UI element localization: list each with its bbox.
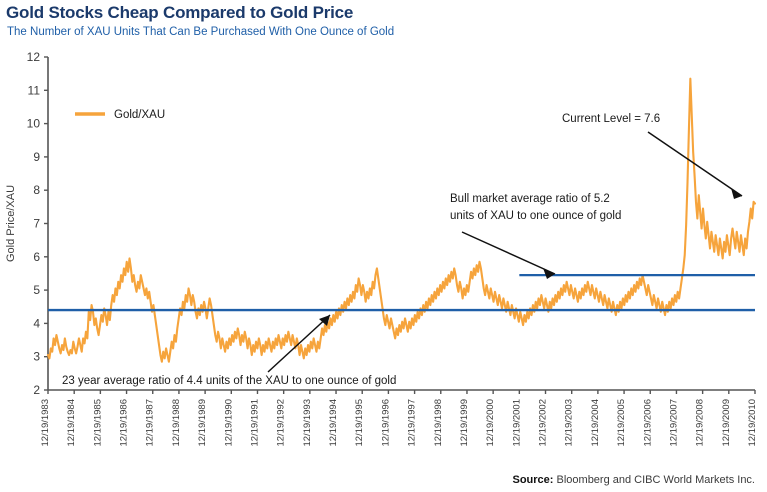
y-tick-label: 9 (33, 150, 40, 164)
x-tick-label: 12/19/1988 (171, 399, 182, 447)
x-tick-label: 12/19/1996 (380, 399, 391, 447)
x-tick-label: 12/19/1997 (407, 399, 418, 447)
x-tick-label: 12/19/2000 (485, 399, 496, 447)
x-tick-label: 12/19/2005 (616, 399, 627, 447)
x-tick-label: 12/19/2007 (668, 399, 679, 447)
x-tick-label: 12/19/2004 (590, 399, 601, 447)
x-tick-label: 12/19/1998 (433, 399, 444, 447)
x-tick-label: 12/19/2009 (721, 399, 732, 447)
source-text: Bloomberg and CIBC World Markets Inc. (553, 474, 755, 486)
x-tick-label: 12/19/2003 (564, 399, 575, 447)
y-tick-label: 10 (27, 117, 41, 131)
x-tick-label: 12/19/1989 (197, 399, 208, 447)
x-tick-label: 12/19/1984 (66, 399, 77, 447)
x-tick-label: 12/19/1991 (249, 399, 260, 447)
y-tick-label: 4 (33, 316, 40, 330)
annotation-bull-market-line2: units of XAU to one ounce of gold (450, 210, 621, 222)
annotation-arrowhead-bull-market (543, 268, 555, 279)
source-label: Source: (512, 474, 553, 486)
annotation-current-level: Current Level = 7.6 (562, 113, 660, 125)
x-tick-label: 12/19/2001 (511, 399, 522, 447)
annotation-bull-market-line1: Bull market average ratio of 5.2 (450, 193, 610, 205)
annotation-arrowhead-current-level (731, 188, 742, 199)
y-tick-label: 11 (28, 83, 41, 97)
x-tick-label: 12/19/1992 (276, 399, 287, 447)
gold-xau-chart: 23456789101112Gold Price/XAU12/19/198312… (0, 0, 767, 492)
legend-label-gold-xau: Gold/XAU (114, 109, 165, 121)
x-tick-label: 12/19/2010 (747, 399, 758, 447)
y-tick-label: 8 (33, 183, 40, 197)
x-tick-label: 12/19/1999 (459, 399, 470, 447)
x-tick-label: 12/19/1987 (145, 399, 156, 447)
x-tick-label: 12/19/1986 (119, 399, 130, 447)
y-tick-label: 7 (33, 217, 40, 231)
y-tick-label: 3 (33, 350, 40, 364)
annotation-long-term-average: 23 year average ratio of 4.4 units of th… (62, 375, 396, 387)
y-tick-label: 2 (33, 383, 40, 397)
x-tick-label: 12/19/1985 (92, 399, 103, 447)
x-tick-label: 12/19/1994 (328, 399, 339, 447)
chart-page: Gold Stocks Cheap Compared to Gold Price… (0, 0, 767, 492)
x-tick-label: 12/19/2002 (538, 399, 549, 447)
x-tick-label: 12/19/1990 (223, 399, 234, 447)
y-axis-title: Gold Price/XAU (5, 185, 17, 262)
x-tick-label: 12/19/1993 (302, 399, 313, 447)
x-tick-label: 12/19/2008 (695, 399, 706, 447)
y-tick-label: 5 (33, 283, 40, 297)
x-tick-label: 12/19/2006 (642, 399, 653, 447)
y-tick-label: 12 (27, 50, 41, 64)
y-tick-label: 6 (33, 250, 40, 264)
x-tick-label: 12/19/1983 (40, 399, 51, 447)
source-note: Source: Bloomberg and CIBC World Markets… (512, 474, 755, 486)
x-tick-label: 12/19/1995 (354, 399, 365, 447)
